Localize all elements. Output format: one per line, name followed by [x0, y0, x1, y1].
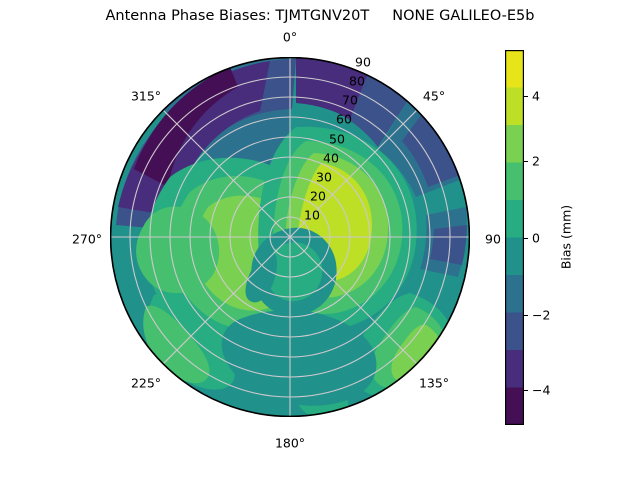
theta-tick-135: 135°	[419, 376, 449, 391]
colorbar-band-0	[505, 388, 524, 426]
colorbar-tickmark-m2	[524, 315, 528, 316]
colorbar-band-1	[505, 350, 524, 388]
r-tick-70: 70	[342, 93, 358, 108]
colorbar-band-9	[505, 50, 524, 88]
r-tick-90: 90	[355, 55, 371, 70]
r-tick-80: 80	[349, 74, 365, 89]
page-title: Antenna Phase Biases: TJMTGNV20T NONE GA…	[0, 8, 640, 24]
theta-tick-90: 90	[485, 232, 501, 247]
theta-tick-0: 0°	[283, 30, 297, 45]
r-tick-10: 10	[304, 208, 320, 223]
colorbar-tickmark-4	[524, 96, 528, 97]
colorbar-tick-label-minus4: −4	[532, 383, 550, 398]
colorbar-band-8	[505, 88, 524, 126]
colorbar-tick-label-minus2: −2	[532, 308, 550, 323]
r-tick-20: 20	[310, 189, 326, 204]
r-tick-30: 30	[316, 170, 332, 185]
colorbar-tickmark-2	[524, 161, 528, 162]
figure-canvas: Antenna Phase Biases: TJMTGNV20T NONE GA…	[0, 0, 640, 480]
theta-tick-180: 180°	[275, 436, 305, 451]
colorbar-gradient	[505, 50, 524, 425]
polar-axes	[110, 57, 470, 417]
colorbar-tickmark-m4	[524, 390, 528, 391]
colorbar-bands	[505, 50, 524, 425]
colorbar-band-5	[505, 200, 524, 238]
colorbar-tickmark-0	[524, 238, 528, 239]
colorbar-tick-label-4: 4	[532, 89, 540, 104]
r-tick-60: 60	[336, 112, 352, 127]
colorbar-tick-label-0: 0	[532, 231, 540, 246]
polar-contour-plot	[110, 57, 470, 417]
colorbar-band-2	[505, 313, 524, 351]
theta-tick-45: 45°	[423, 89, 445, 104]
colorbar-band-7	[505, 125, 524, 163]
theta-tick-270: 270°	[72, 232, 102, 247]
colorbar-band-4	[505, 238, 524, 276]
polar-grid-spokes	[110, 57, 470, 417]
colorbar[interactable]	[505, 50, 524, 425]
theta-tick-315: 315°	[131, 89, 161, 104]
r-tick-50: 50	[329, 132, 345, 147]
r-tick-40: 40	[323, 151, 339, 166]
colorbar-axis-label: Bias (mm)	[559, 205, 574, 269]
colorbar-band-3	[505, 275, 524, 313]
colorbar-band-6	[505, 163, 524, 201]
colorbar-tick-label-2: 2	[532, 154, 540, 169]
theta-tick-225: 225°	[131, 376, 161, 391]
